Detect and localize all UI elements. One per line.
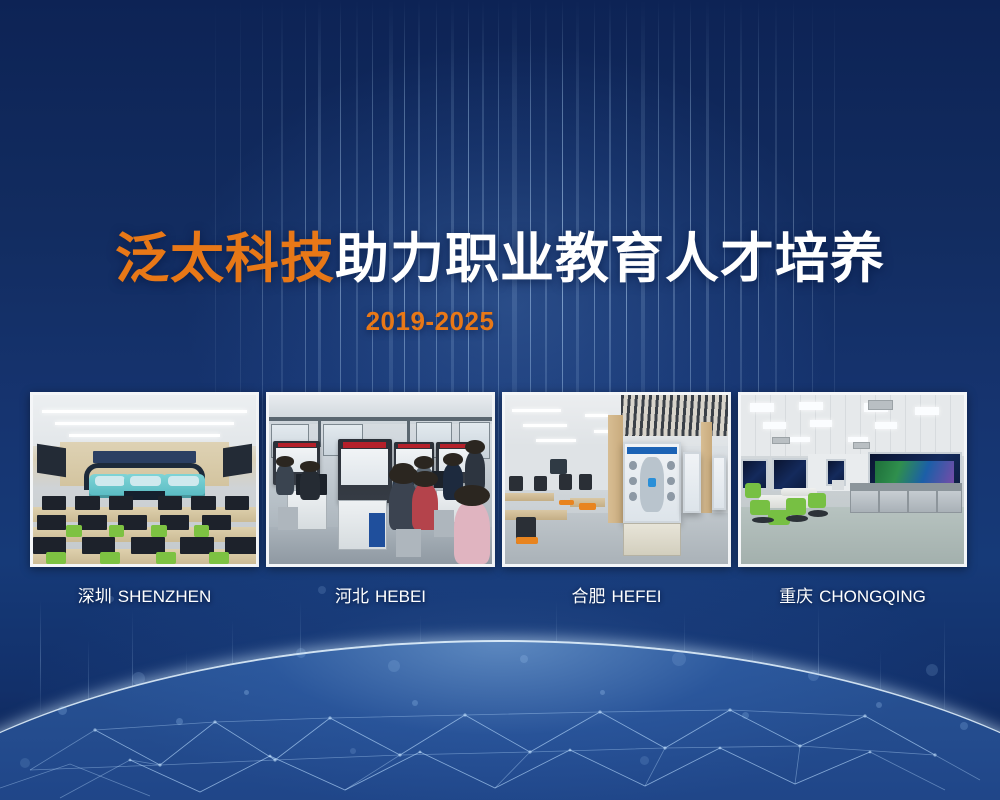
gallery-photo-card[interactable] [266,392,495,567]
photo-gallery [30,392,970,567]
caption-cn-text: 河北 [335,587,369,606]
caption-en-text: SHENZHEN [118,587,212,606]
title-block: 泛太科技助力职业教育人才培养 [0,232,1000,286]
photo-hefei-vehicle-control-system-lab [505,395,728,564]
year-range-label: 2019-2025 [0,306,1000,337]
gallery-photo-card[interactable] [30,392,259,567]
caption-hefei: 合肥HEFEI [502,583,731,611]
title-brand-text: 泛太科技 [115,229,335,289]
photo-chongqing-smart-lab [741,395,964,564]
caption-cn-text: 深圳 [78,587,112,606]
photo-hebei-industrial-training-lab [269,395,492,564]
title-tagline-text: 助力职业教育人才培养 [335,229,885,289]
caption-en-text: HEFEI [611,587,661,606]
caption-en-text: CHONGQING [819,587,926,606]
promo-banner: 泛太科技助力职业教育人才培养 2019-2025 [0,0,1000,800]
caption-chongqing: 重庆CHONGQING [738,583,967,611]
caption-en-text: HEBEI [375,587,426,606]
main-title: 泛太科技助力职业教育人才培养 [0,232,1000,286]
photo-captions: 深圳SHENZHEN 河北HEBEI 合肥HEFEI 重庆CHONGQING [30,583,970,611]
earth-horizon-graphic [0,600,1000,800]
photo-shenzhen-harmonyos-auto-classroom [33,395,256,564]
caption-cn-text: 合肥 [571,587,605,606]
caption-hebei: 河北HEBEI [266,583,495,611]
gallery-photo-card[interactable] [738,392,967,567]
gallery-photo-card[interactable] [502,392,731,567]
caption-cn-text: 重庆 [779,587,813,606]
network-mesh-overlay [0,660,1000,800]
caption-shenzhen: 深圳SHENZHEN [30,583,259,611]
